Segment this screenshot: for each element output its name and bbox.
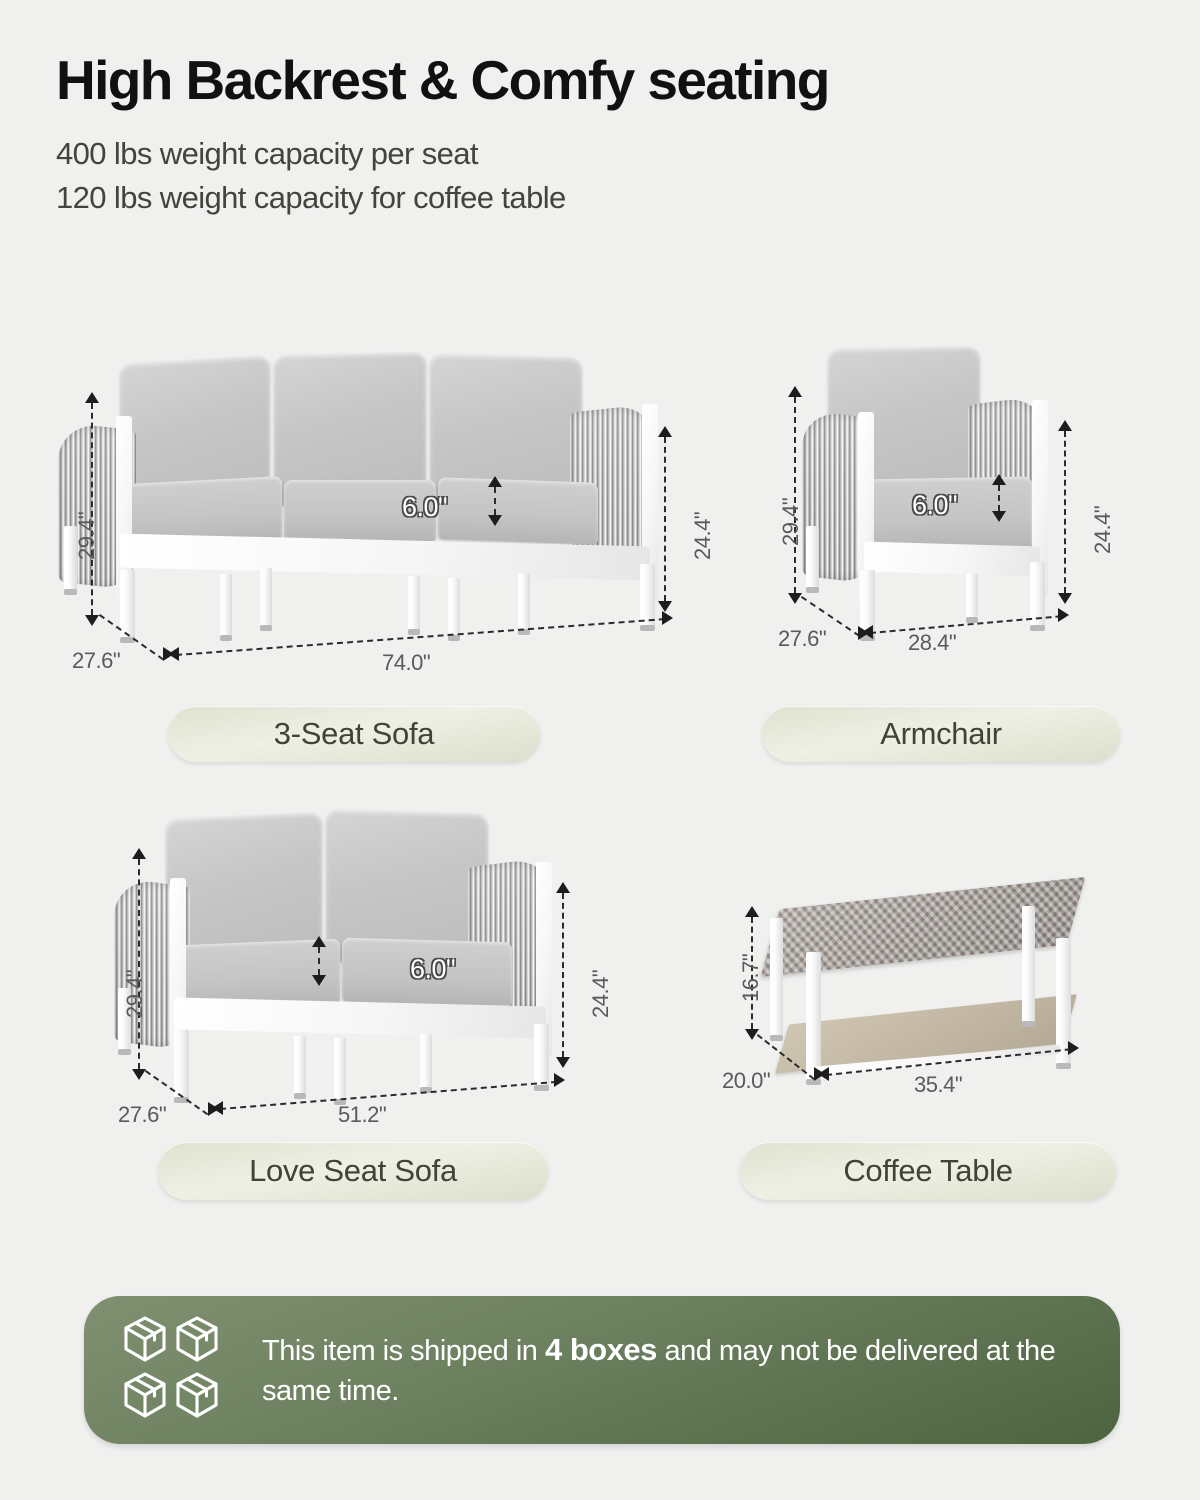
dim-arrow-height-top [788, 386, 802, 397]
subtitle-line-1: 400 lbs weight capacity per seat [56, 132, 1156, 176]
dim-arrow-cushion-top [992, 474, 1006, 485]
dim-label-backheight: 24.4" [690, 512, 716, 560]
leg-front-right [534, 1024, 549, 1086]
shipping-message: This item is shipped in 4 boxes and may … [262, 1329, 1120, 1412]
dim-arrow-height-bottom [788, 593, 802, 604]
dim-label-depth: 27.6" [118, 1102, 166, 1128]
leg-mid-c [420, 1034, 432, 1088]
leg-mid-a [220, 574, 232, 636]
dim-arrow-width-right [1058, 608, 1069, 622]
dim-line-cushion [494, 487, 496, 515]
dim-arrow-cushion-top [312, 936, 326, 947]
dim-arrow-backheight-bottom [556, 1057, 570, 1068]
product-label-love-seat-sofa[interactable]: Love Seat Sofa [158, 1142, 548, 1200]
seat-cushion-right [438, 477, 598, 545]
dim-arrow-width-left [818, 1067, 829, 1081]
package-box-icon [174, 1370, 226, 1426]
leg-front-left [174, 1030, 189, 1098]
product-label-armchair[interactable]: Armchair [762, 706, 1120, 762]
leg-mid-a [294, 1036, 306, 1094]
dim-line-height [138, 859, 140, 1069]
dim-line-height [794, 397, 796, 593]
leg-mid-d [448, 578, 460, 636]
dim-arrow-cushion-bottom [312, 975, 326, 986]
dim-label-height: 29.4" [778, 498, 804, 546]
dim-line-height [91, 403, 93, 615]
product-panel-armchair: 29.4" 24.4" 6.0" 27.6" 28.4" [740, 330, 1160, 770]
dim-label-backheight: 24.4" [1090, 506, 1116, 554]
subtitle-line-2: 120 lbs weight capacity for coffee table [56, 176, 1156, 220]
package-box-icon [122, 1370, 174, 1426]
dim-arrow-backheight-top [658, 426, 672, 437]
dim-label-width: 74.0" [382, 650, 430, 676]
dim-arrow-height-top [85, 392, 99, 403]
dim-arrow-width-left [212, 1101, 223, 1115]
subtitle-block: 400 lbs weight capacity per seat 120 lbs… [56, 132, 1156, 220]
dim-line-backheight [664, 437, 666, 601]
package-box-icon [122, 1314, 174, 1370]
dim-line-backheight [1064, 431, 1066, 593]
leg-mid [966, 574, 978, 618]
product-panel-3-seat-sofa: 29.4" 24.4" 6.0" 27.6" 74.0" [40, 330, 700, 770]
product-label-coffee-table[interactable]: Coffee Table [740, 1142, 1116, 1200]
dim-label-depth: 20.0" [722, 1068, 770, 1094]
shipping-text-before: This item is shipped in [262, 1335, 545, 1367]
leg-front-left [120, 570, 135, 638]
dim-arrow-width-right [662, 611, 673, 625]
dim-label-height: 29.4" [122, 970, 148, 1018]
dim-arrow-cushion-bottom [992, 511, 1006, 522]
dim-arrow-width-left [862, 625, 873, 639]
dim-label-height: 29.4" [74, 512, 100, 560]
header-block: High Backrest & Comfy seating 400 lbs we… [56, 52, 1156, 220]
dim-label-depth: 27.6" [72, 648, 120, 674]
page-title: High Backrest & Comfy seating [56, 52, 1156, 110]
dim-label-cushion: 6.0" [402, 492, 447, 523]
dim-arrow-backheight-bottom [1058, 593, 1072, 604]
leg-mid-b [260, 568, 272, 626]
dim-label-width: 51.2" [338, 1102, 386, 1128]
leg-mid-c [408, 576, 420, 630]
frame-seat-rail [864, 542, 1040, 577]
table-leg-back-right [1022, 906, 1035, 1022]
product-label-3-seat-sofa[interactable]: 3-Seat Sofa [168, 706, 540, 762]
dim-arrow-backheight-top [556, 882, 570, 893]
dim-arrow-cushion-top [488, 476, 502, 487]
dim-label-cushion: 6.0" [410, 954, 455, 985]
dim-label-width: 28.4" [908, 630, 956, 656]
dim-arrow-width-right [554, 1073, 565, 1087]
dim-arrow-height-top [132, 848, 146, 859]
dim-arrow-backheight-top [1058, 420, 1072, 431]
leg-back-left [806, 526, 819, 588]
dim-arrow-width-left [168, 647, 179, 661]
dim-arrow-height-bottom [85, 615, 99, 626]
dim-label-height: 16.7" [738, 954, 764, 1002]
dim-label-width: 35.4" [914, 1072, 962, 1098]
leg-mid-e [518, 574, 530, 630]
dim-label-backheight: 24.4" [588, 970, 614, 1018]
sofa-illustration [40, 330, 700, 770]
dim-arrow-cushion-bottom [488, 515, 502, 526]
dim-line-backheight [562, 893, 564, 1057]
dim-line-cushion [998, 485, 1000, 511]
dim-line-cushion [318, 947, 320, 975]
shipping-banner: This item is shipped in 4 boxes and may … [84, 1296, 1120, 1444]
shipping-boxes-icon-group [122, 1314, 226, 1426]
table-leg-front-left [806, 952, 821, 1080]
dim-arrow-height-top [745, 906, 759, 917]
package-box-icon [174, 1314, 226, 1370]
leg-mid-b [334, 1038, 346, 1100]
shipping-box-count: 4 boxes [545, 1332, 657, 1367]
dim-label-cushion: 6.0" [912, 490, 957, 521]
leg-front-right [640, 564, 655, 626]
dim-label-depth: 27.6" [778, 626, 826, 652]
dim-arrow-width-right [1068, 1041, 1079, 1055]
table-leg-back-left [770, 918, 783, 1036]
